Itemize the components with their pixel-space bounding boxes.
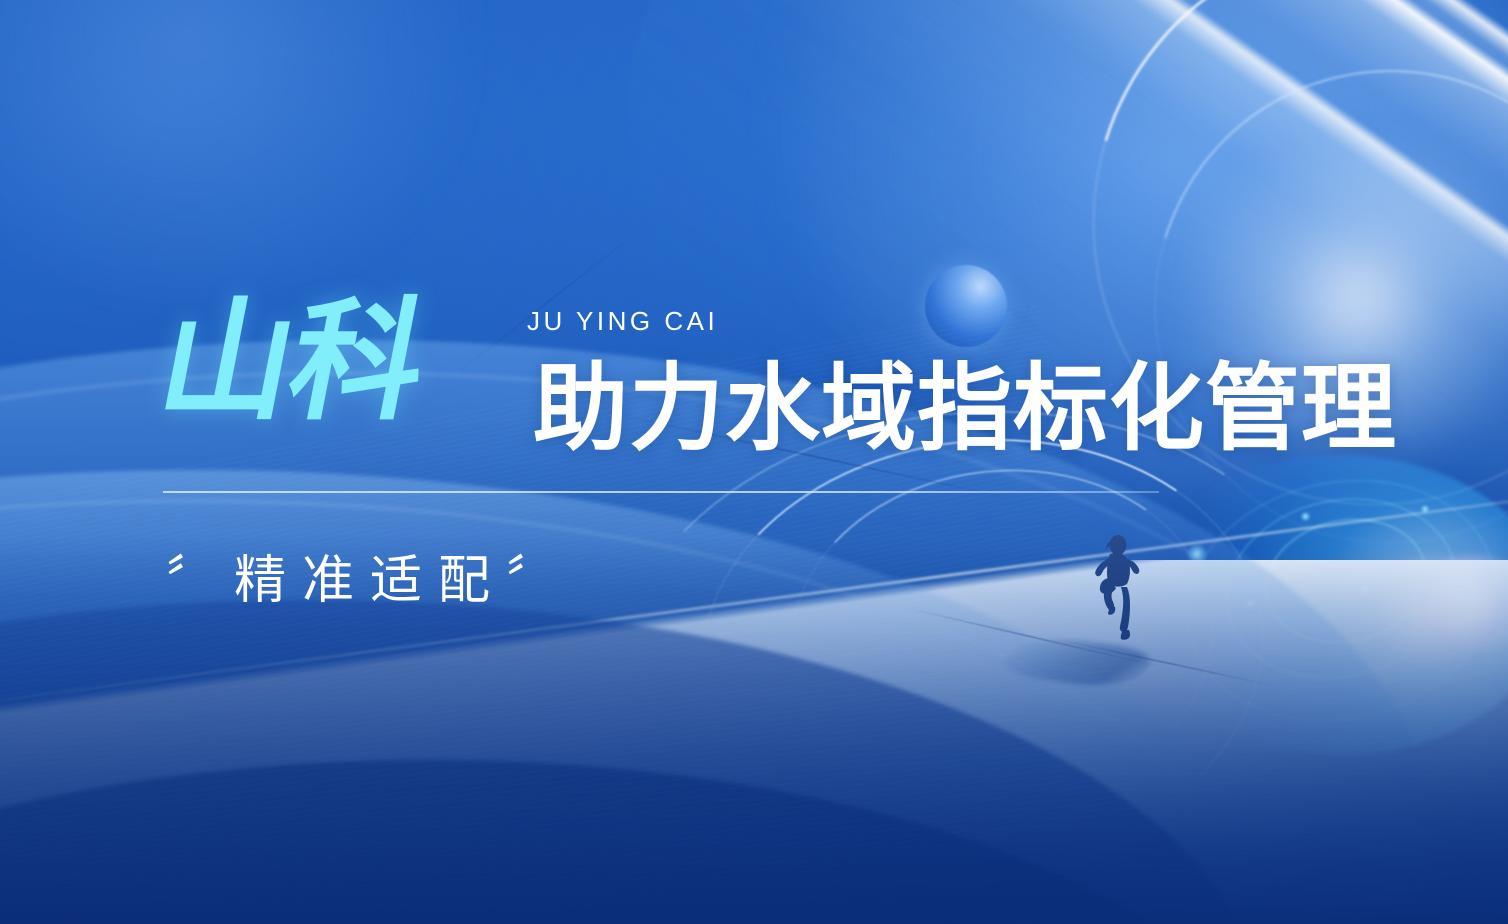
brand-pinyin: JU YING CAI [527,306,718,337]
tagline: 〞精准适配〞 [166,538,574,613]
brand-logo-text: 山科 [149,298,434,427]
banner-stage: 山科 JU YING CAI 助力水域指标化管理 〞精准适配〞 [0,0,1508,924]
banner-content: 山科 JU YING CAI 助力水域指标化管理 〞精准适配〞 [0,0,1508,924]
brand-logo: 山科 [162,298,422,427]
page-title: 助力水域指标化管理 [533,360,1397,460]
divider [163,491,1159,493]
